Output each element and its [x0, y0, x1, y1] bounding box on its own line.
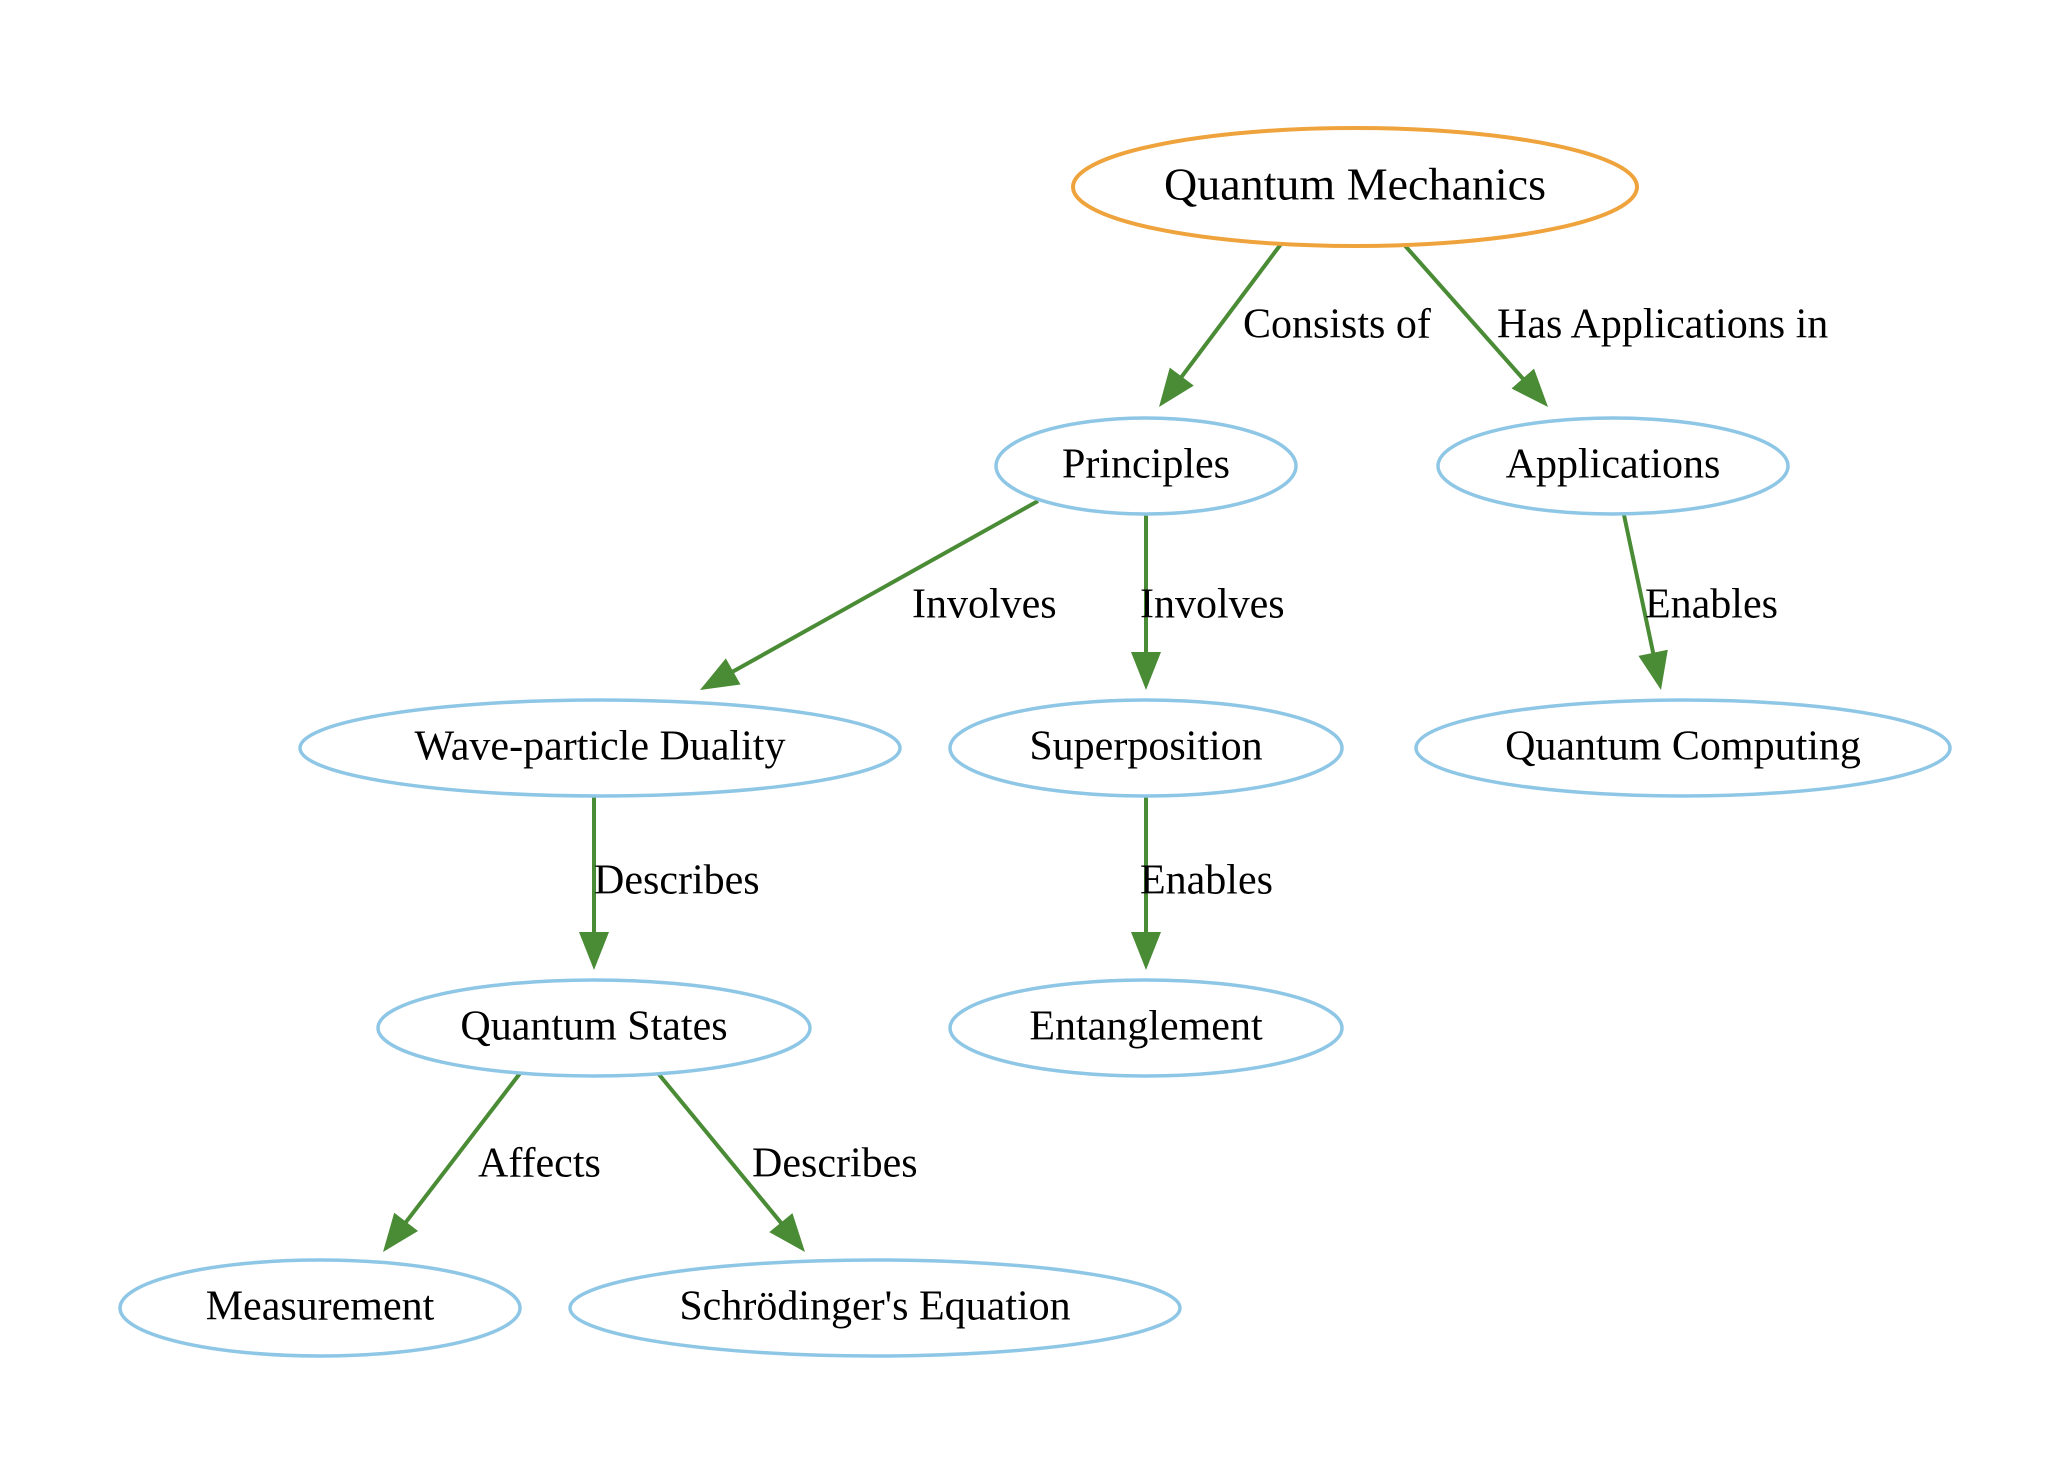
node-applications[interactable]: Applications: [1438, 418, 1788, 514]
diagram-canvas: Quantum MechanicsPrinciplesApplicationsW…: [0, 0, 2072, 1460]
edge-label-qm-applications: Has Applications in: [1497, 302, 1828, 348]
arrowhead-icon: [700, 658, 740, 690]
edge-label-applications-qc: Enables: [1645, 582, 1778, 628]
node-label: Superposition: [1029, 724, 1262, 770]
node-label: Entanglement: [1029, 1004, 1263, 1050]
concept-map-svg: Quantum MechanicsPrinciplesApplicationsW…: [0, 0, 2072, 1460]
arrowhead-icon: [383, 1213, 418, 1252]
node-label: Schrödinger's Equation: [679, 1284, 1070, 1330]
edge-label-principles-superposition: Involves: [1140, 582, 1285, 628]
node-quantum-states[interactable]: Quantum States: [378, 980, 810, 1076]
edge-label-superposition-entanglement: Enables: [1140, 858, 1273, 904]
edge-label-states-schrodinger: Describes: [752, 1141, 918, 1187]
edge-label-qm-principles: Consists of: [1243, 302, 1431, 348]
node-label: Measurement: [206, 1284, 435, 1330]
node-superposition[interactable]: Superposition: [950, 700, 1342, 796]
arrowhead-icon: [769, 1213, 805, 1252]
node-measurement[interactable]: Measurement: [120, 1260, 520, 1356]
node-entanglement[interactable]: Entanglement: [950, 980, 1342, 1076]
arrowhead-icon: [1159, 368, 1194, 407]
node-label: Quantum States: [460, 1004, 727, 1050]
node-wave-particle-duality[interactable]: Wave-particle Duality: [300, 700, 900, 796]
node-label: Quantum Computing: [1505, 724, 1861, 770]
node-quantum-computing[interactable]: Quantum Computing: [1416, 700, 1950, 796]
edge-label-states-measurement: Affects: [478, 1141, 601, 1187]
node-principles[interactable]: Principles: [996, 418, 1296, 514]
node-label: Principles: [1062, 442, 1230, 488]
arrowhead-icon: [1131, 932, 1161, 970]
arrowhead-icon: [1638, 650, 1667, 690]
node-quantum-mechanics[interactable]: Quantum Mechanics: [1073, 128, 1637, 246]
arrowhead-icon: [1131, 652, 1161, 690]
node-label: Applications: [1506, 442, 1721, 488]
edge-label-principles-wpd: Involves: [912, 582, 1057, 628]
node-schrodingers-equation[interactable]: Schrödinger's Equation: [570, 1260, 1180, 1356]
node-label: Wave-particle Duality: [415, 724, 786, 770]
edge-label-wpd-states: Describes: [594, 858, 760, 904]
node-label: Quantum Mechanics: [1164, 159, 1546, 210]
arrowhead-icon: [579, 932, 609, 970]
